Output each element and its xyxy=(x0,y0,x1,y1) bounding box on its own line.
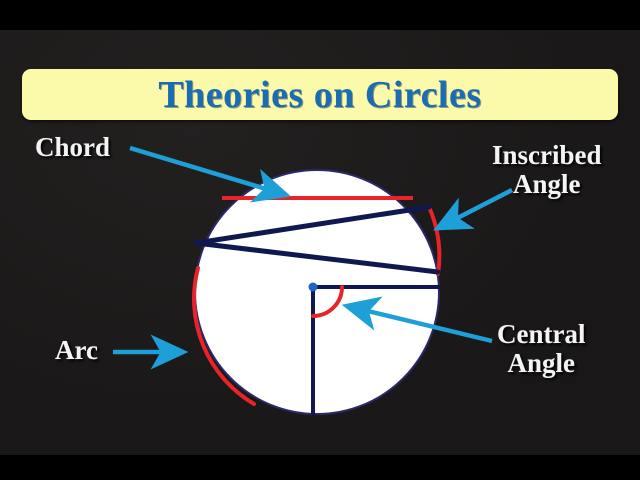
inscribed-angle-label-line2: Angle xyxy=(492,170,602,199)
inscribed-angle-label-line1: Inscribed xyxy=(492,140,602,170)
center-point-dot xyxy=(309,283,318,292)
central-angle-label: Central Angle xyxy=(497,320,585,378)
arc-label-text: Arc xyxy=(55,335,98,365)
chord-arrow xyxy=(130,148,286,195)
central-angle-label-line2: Angle xyxy=(497,349,585,378)
arc-label: Arc xyxy=(55,336,98,365)
inscribed-angle-label: Inscribed Angle xyxy=(492,141,602,199)
central-angle-label-line1: Central xyxy=(497,319,585,349)
circle-diagram xyxy=(0,0,640,480)
chord-label: Chord xyxy=(35,133,110,162)
circle-shape xyxy=(195,170,439,414)
slide-canvas: Theories on Circles Chord xyxy=(0,0,640,480)
chord-label-text: Chord xyxy=(35,132,110,162)
